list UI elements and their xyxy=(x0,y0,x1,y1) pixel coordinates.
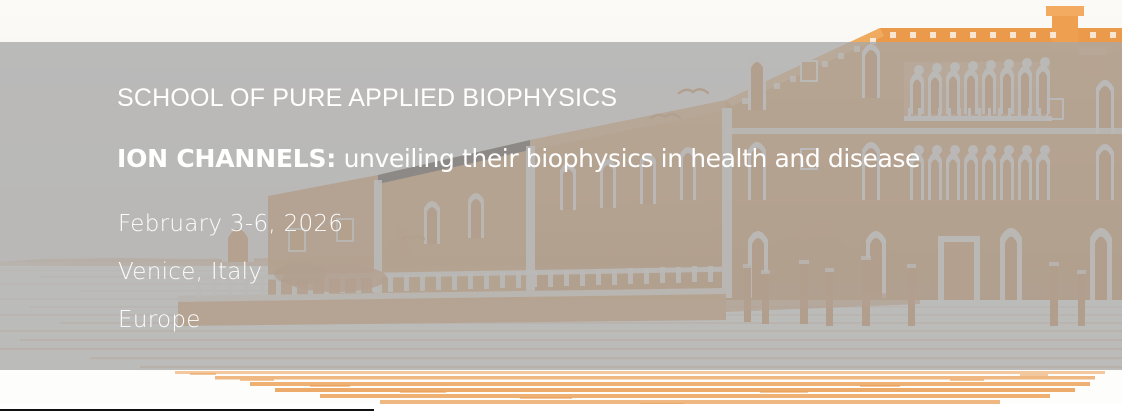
banner-text-block: SCHOOL OF PURE APPLIED BIOPHYSICS ION CH… xyxy=(117,42,1017,370)
event-region: Europe xyxy=(118,307,201,333)
event-date: February 3-6, 2026 xyxy=(118,211,343,237)
event-location: Venice, Italy xyxy=(118,259,262,285)
event-title-rest: unveiling their biophysics in health and… xyxy=(336,144,920,173)
event-title: ION CHANNELS: unveiling their biophysics… xyxy=(117,144,920,173)
event-banner: SCHOOL OF PURE APPLIED BIOPHYSICS ION CH… xyxy=(0,0,1122,415)
school-title: SCHOOL OF PURE APPLIED BIOPHYSICS xyxy=(117,84,617,113)
bottom-divider-rule xyxy=(0,409,374,411)
event-title-lead: ION CHANNELS: xyxy=(117,144,336,173)
